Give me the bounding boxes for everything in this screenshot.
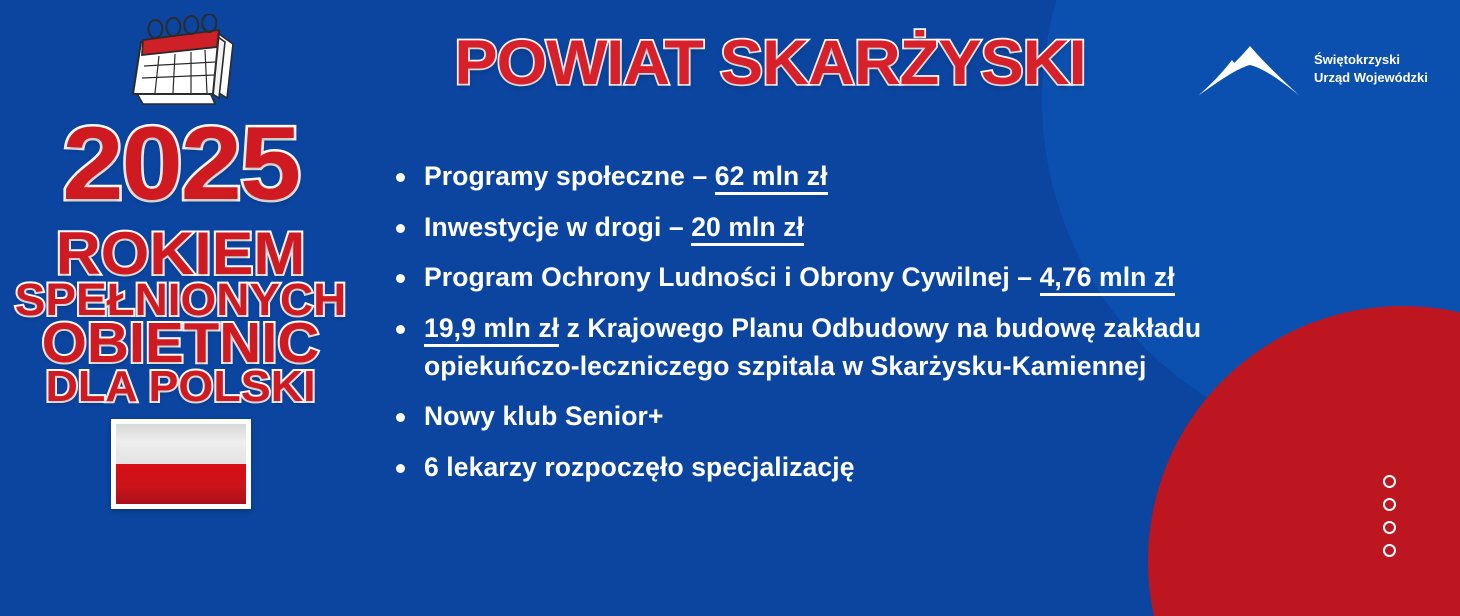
list-item-text: Inwestycje w drogi – — [424, 212, 691, 242]
circle-outline-dot — [1383, 521, 1396, 534]
highlighted-amount: 19,9 mln zł — [424, 313, 559, 347]
highlighted-amount: 62 mln zł — [715, 161, 828, 195]
highlighted-amount: 20 mln zł — [691, 212, 804, 246]
list-item: Programy społeczne – 62 mln zł — [388, 158, 1338, 196]
flag-white-stripe — [116, 424, 246, 464]
achievements-list: Programy społeczne – 62 mln złInwestycje… — [388, 158, 1338, 499]
highlighted-amount: 4,76 mln zł — [1040, 262, 1175, 296]
logo-text-line-2: Urząd Wojewódzki — [1314, 69, 1428, 87]
circle-outline-dot — [1383, 544, 1396, 557]
organization-logo: Świętokrzyski Urząd Wojewódzki — [1196, 38, 1428, 100]
year-2025: 2025 — [63, 114, 300, 216]
flag-red-stripe — [116, 464, 246, 504]
desk-calendar-icon — [123, 14, 239, 110]
list-item: 6 lekarzy rozpoczęło specjalizację — [388, 449, 1338, 487]
slogan-line-1: ROKIEM — [12, 226, 350, 281]
promo-banner: 2025 ROKIEM SPEŁNIONYCH OBIETNIC DLA POL… — [0, 0, 1460, 616]
logo-text: Świętokrzyski Urząd Wojewódzki — [1314, 51, 1428, 86]
list-item: Program Ochrony Ludności i Obrony Cywiln… — [388, 259, 1338, 297]
dots-decoration — [1380, 475, 1398, 557]
slogan-line-4: DLA POLSKI — [15, 367, 347, 407]
polish-flag — [111, 419, 251, 509]
page-title: POWIAT SKARŻYSKI — [389, 32, 1151, 95]
list-item-text: Programy społeczne – — [424, 161, 715, 191]
list-item: Nowy klub Senior+ — [388, 398, 1338, 436]
list-item: Inwestycje w drogi – 20 mln zł — [388, 209, 1338, 247]
swietokrzyski-mountain-logo-icon — [1196, 38, 1304, 100]
circle-outline-dot — [1383, 498, 1396, 511]
list-item-text: Program Ochrony Ludności i Obrony Cywiln… — [424, 262, 1040, 292]
list-item-text: Nowy klub Senior+ — [424, 401, 664, 431]
logo-text-line-1: Świętokrzyski — [1314, 51, 1428, 69]
list-item-text: 6 lekarzy rozpoczęło specjalizację — [424, 452, 855, 482]
circle-outline-dot — [1383, 475, 1396, 488]
list-item: 19,9 mln zł z Krajowego Planu Odbudowy n… — [388, 310, 1338, 385]
left-panel: 2025 ROKIEM SPEŁNIONYCH OBIETNIC DLA POL… — [0, 0, 362, 616]
slogan-block: ROKIEM SPEŁNIONYCH OBIETNIC DLA POLSKI — [18, 226, 343, 407]
